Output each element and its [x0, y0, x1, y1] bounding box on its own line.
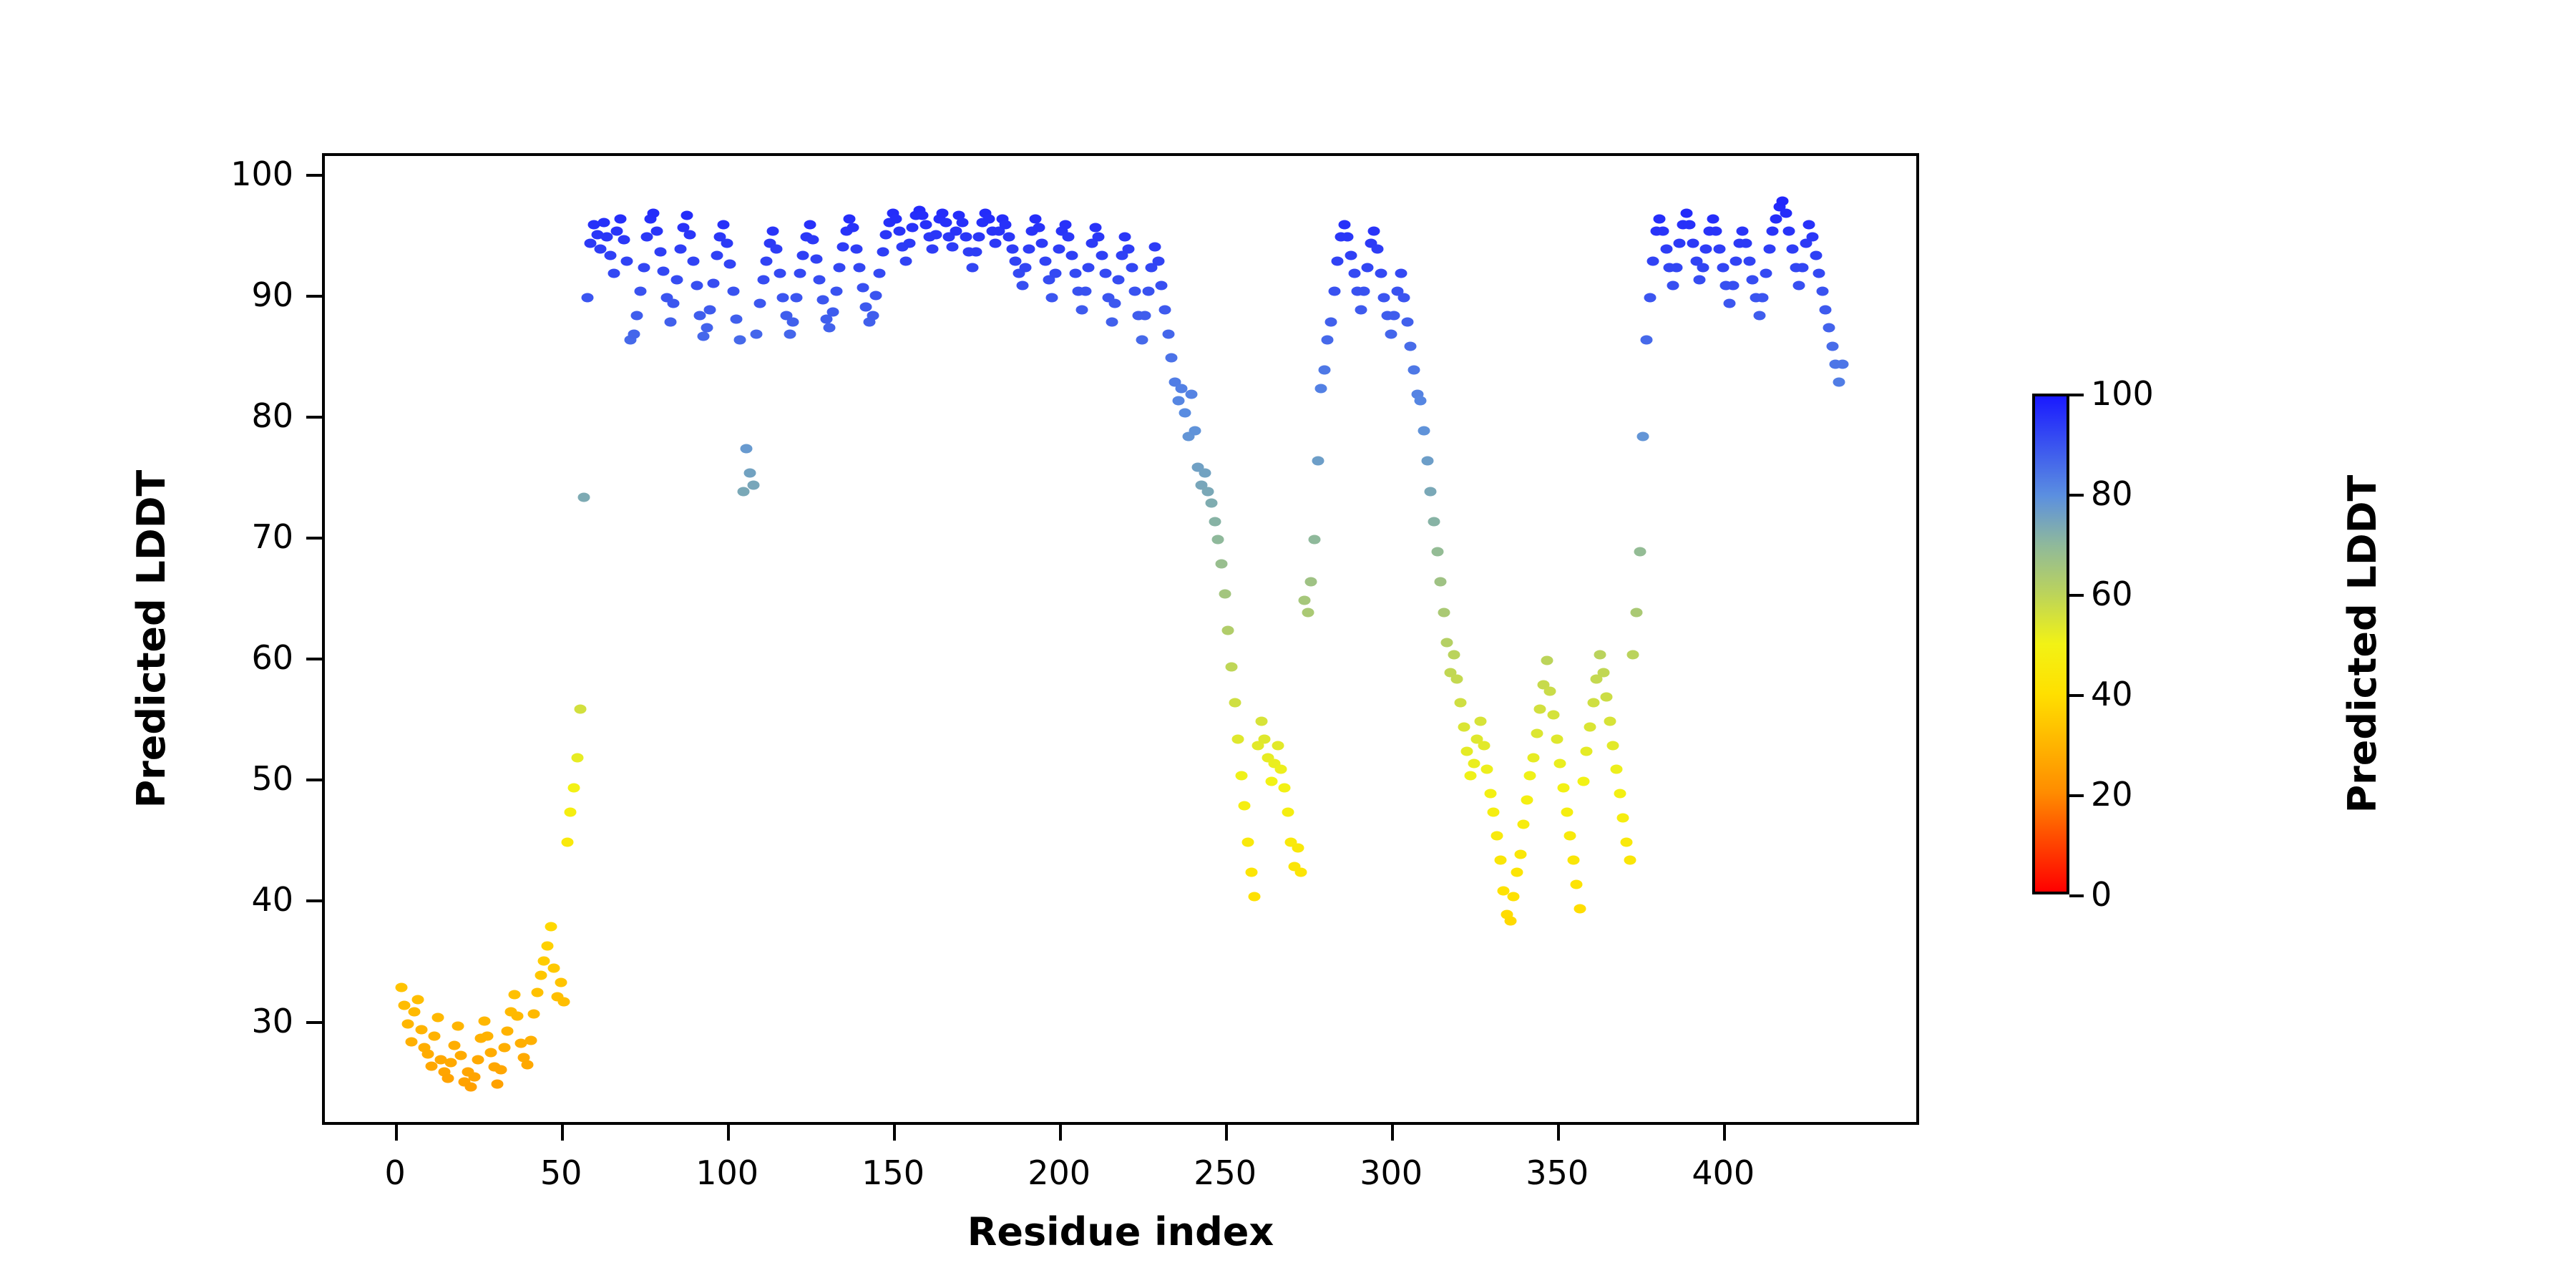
scatter-point	[1156, 281, 1168, 291]
scatter-point	[1305, 577, 1317, 587]
scatter-point	[1448, 650, 1460, 659]
scatter-point	[561, 837, 573, 847]
scatter-point	[1654, 214, 1666, 223]
colorbar-tick-mark	[2069, 794, 2084, 797]
x-axis-title: Residue index	[322, 1209, 1919, 1254]
scatter-point	[1617, 814, 1629, 823]
scatter-point	[1461, 747, 1473, 756]
scatter-point	[1405, 341, 1417, 351]
colorbar-tick-mark	[2069, 394, 2084, 396]
scatter-point	[1322, 336, 1334, 345]
scatter-point	[701, 323, 713, 333]
scatter-point	[1119, 233, 1131, 242]
scatter-point	[1581, 747, 1593, 756]
scatter-point	[468, 1073, 480, 1082]
x-tick-label: 250	[1194, 1153, 1257, 1192]
scatter-point	[1796, 263, 1808, 272]
scatter-point	[827, 308, 839, 317]
scatter-point	[1020, 263, 1032, 272]
scatter-point	[1282, 807, 1294, 816]
scatter-point	[1770, 214, 1782, 223]
scatter-point	[528, 1010, 540, 1019]
x-tick-label: 50	[540, 1153, 582, 1192]
scatter-point	[983, 214, 995, 223]
scatter-point	[1816, 287, 1828, 296]
scatter-point	[1680, 208, 1692, 218]
scatter-point	[1046, 293, 1058, 302]
scatter-point	[1793, 281, 1805, 291]
y-tick-mark	[306, 899, 322, 902]
scatter-point	[680, 210, 693, 220]
scatter-point	[1023, 245, 1035, 254]
scatter-point	[525, 1036, 537, 1045]
scatter-point	[1441, 638, 1453, 647]
scatter-point	[790, 293, 802, 302]
y-tick-label: 60	[251, 638, 293, 677]
scatter-point	[1083, 263, 1095, 272]
scatter-point	[1740, 238, 1752, 248]
scatter-point	[741, 444, 753, 454]
scatter-point	[1348, 269, 1360, 278]
scatter-point	[1607, 741, 1619, 750]
scatter-point	[1431, 547, 1443, 557]
scatter-point	[532, 987, 544, 997]
scatter-point	[1757, 293, 1769, 302]
colorbar-tick-label: 80	[2091, 474, 2133, 513]
x-tick-label: 100	[696, 1153, 758, 1192]
scatter-point	[1544, 686, 1556, 696]
scatter-point	[1614, 789, 1626, 799]
scatter-point	[1567, 856, 1579, 865]
y-tick-mark	[306, 416, 322, 419]
x-tick-mark	[727, 1125, 730, 1141]
scatter-point	[1810, 250, 1822, 260]
scatter-point	[1474, 716, 1486, 726]
scatter-point	[1016, 281, 1028, 291]
scatter-point	[1627, 650, 1639, 659]
scatter-point	[903, 238, 915, 248]
scatter-point	[1464, 771, 1476, 780]
scatter-point	[734, 336, 746, 345]
scatter-point	[1723, 299, 1735, 308]
scatter-point	[794, 269, 806, 278]
scatter-point	[1113, 275, 1125, 284]
scatter-point	[1521, 795, 1533, 804]
y-tick-label: 30	[251, 1002, 293, 1040]
scatter-point	[1272, 741, 1284, 750]
scatter-point	[919, 220, 932, 230]
scatter-point	[721, 238, 733, 248]
scatter-point	[797, 250, 809, 260]
scatter-point	[684, 230, 696, 239]
scatter-point	[1528, 753, 1540, 762]
scatter-point	[1760, 269, 1772, 278]
scatter-point	[867, 311, 879, 321]
scatter-point	[814, 275, 826, 284]
scatter-point	[1713, 245, 1725, 254]
scatter-point	[558, 997, 570, 1007]
scatter-point	[1508, 892, 1520, 902]
scatter-point	[1275, 765, 1287, 774]
scatter-point	[631, 311, 643, 321]
scatter-point	[608, 269, 620, 278]
scatter-point	[1189, 426, 1201, 435]
scatter-point	[618, 235, 630, 244]
scatter-point	[860, 303, 872, 312]
scatter-point	[1298, 595, 1310, 605]
scatter-point	[704, 305, 716, 314]
scatter-points-layer	[325, 156, 1916, 1122]
scatter-point	[834, 263, 846, 272]
scatter-point	[836, 242, 849, 251]
scatter-point	[1006, 245, 1018, 254]
scatter-point	[634, 287, 646, 296]
scatter-point	[605, 250, 617, 260]
scatter-point	[1096, 250, 1108, 260]
scatter-point	[455, 1050, 467, 1060]
scatter-point	[452, 1021, 464, 1030]
scatter-point	[1836, 359, 1848, 369]
scatter-point	[1066, 250, 1078, 260]
scatter-point	[1435, 577, 1447, 587]
scatter-point	[1126, 263, 1138, 272]
scatter-point	[478, 1017, 490, 1026]
scatter-point	[1149, 242, 1161, 251]
scatter-point	[1186, 390, 1198, 399]
colorbar-tick-label: 0	[2091, 875, 2112, 914]
x-tick-mark	[1225, 1125, 1228, 1141]
y-tick-label: 40	[251, 880, 293, 919]
scatter-point	[1199, 469, 1211, 478]
scatter-point	[960, 233, 972, 242]
scatter-point	[873, 269, 885, 278]
scatter-point	[1780, 208, 1792, 218]
scatter-point	[1245, 868, 1257, 877]
scatter-point	[1707, 214, 1719, 223]
scatter-point	[1265, 777, 1277, 786]
scatter-point	[1225, 662, 1237, 671]
scatter-point	[1259, 735, 1271, 744]
colorbar-ticks: 020406080100	[2069, 394, 2212, 894]
scatter-point	[691, 281, 703, 291]
scatter-point	[1484, 789, 1496, 799]
scatter-point	[1142, 287, 1154, 296]
y-tick-mark	[306, 295, 322, 298]
scatter-point	[1302, 608, 1314, 617]
scatter-point	[581, 293, 593, 302]
scatter-point	[1099, 269, 1111, 278]
y-tick-mark	[306, 658, 322, 660]
scatter-point	[1657, 226, 1669, 235]
scatter-point	[1458, 723, 1470, 732]
scatter-point	[641, 233, 653, 242]
scatter-point	[1368, 226, 1380, 235]
scatter-point	[1079, 287, 1091, 296]
x-tick-mark	[395, 1125, 398, 1141]
scatter-point	[1308, 535, 1320, 545]
scatter-point	[654, 247, 666, 256]
scatter-point	[441, 1073, 454, 1083]
scatter-point	[1295, 868, 1307, 877]
scatter-point	[1557, 783, 1569, 792]
scatter-point	[761, 257, 773, 266]
y-tick-label: 90	[251, 275, 293, 314]
scatter-point	[1823, 323, 1835, 333]
scatter-point	[927, 245, 939, 254]
scatter-point	[1063, 233, 1075, 242]
scatter-point	[538, 956, 550, 965]
scatter-point	[1547, 711, 1559, 720]
scatter-point	[548, 963, 560, 972]
scatter-point	[771, 245, 783, 254]
scatter-point	[757, 275, 769, 284]
scatter-point	[1777, 196, 1789, 205]
scatter-point	[1255, 716, 1267, 726]
scatter-point	[1531, 728, 1543, 738]
scatter-point	[1093, 233, 1105, 242]
scatter-point	[1166, 353, 1178, 363]
scatter-point	[1172, 396, 1184, 405]
scatter-point	[472, 1055, 484, 1065]
scatter-point	[1232, 735, 1244, 744]
scatter-point	[1139, 311, 1151, 321]
scatter-point	[817, 296, 829, 305]
scatter-point	[1106, 317, 1118, 326]
scatter-point	[1551, 735, 1563, 744]
scatter-point	[1737, 226, 1749, 235]
scatter-point	[421, 1049, 434, 1058]
scatter-point	[707, 278, 719, 288]
scatter-point	[717, 220, 729, 230]
scatter-point	[498, 1043, 510, 1053]
y-tick-label: 70	[251, 517, 293, 556]
scatter-point	[854, 263, 866, 272]
scatter-point	[1594, 650, 1606, 659]
scatter-point	[1820, 305, 1832, 314]
x-tick-label: 0	[384, 1153, 405, 1192]
scatter-point	[1049, 269, 1061, 278]
scatter-point	[1129, 287, 1141, 296]
scatter-point	[1667, 281, 1679, 291]
scatter-point	[731, 315, 743, 324]
scatter-point	[1438, 608, 1450, 617]
scatter-point	[508, 990, 520, 1000]
scatter-point	[847, 223, 859, 232]
scatter-point	[1687, 238, 1699, 248]
scatter-point	[1541, 656, 1553, 665]
scatter-point	[1375, 269, 1387, 278]
scatter-point	[1630, 608, 1642, 617]
scatter-point	[621, 257, 633, 266]
scatter-point	[1152, 257, 1164, 266]
scatter-point	[711, 250, 723, 260]
scatter-point	[1644, 293, 1656, 302]
scatter-point	[1524, 771, 1536, 780]
scatter-point	[1518, 819, 1530, 829]
y-tick-label: 80	[251, 396, 293, 435]
scatter-point	[668, 299, 680, 308]
x-axis-tick-labels: 050100150200250300350400	[322, 1153, 1919, 1196]
scatter-point	[628, 329, 640, 338]
scatter-point	[1033, 223, 1045, 232]
scatter-point	[1684, 220, 1696, 230]
scatter-point	[1408, 366, 1420, 375]
y-tick-mark	[306, 537, 322, 540]
x-tick-mark	[1059, 1125, 1062, 1141]
scatter-point	[565, 807, 577, 816]
scatter-point	[787, 317, 799, 326]
scatter-point	[1478, 741, 1490, 750]
scatter-point	[1089, 223, 1101, 232]
scatter-point	[990, 238, 1002, 248]
scatter-point	[857, 283, 869, 293]
scatter-point	[1355, 305, 1367, 314]
scatter-point	[694, 311, 706, 321]
scatter-point	[1634, 547, 1646, 557]
colorbar-tick-mark	[2069, 494, 2084, 497]
scatter-point	[402, 1019, 414, 1028]
scatter-point	[810, 254, 822, 263]
scatter-point	[1674, 238, 1686, 248]
scatter-point	[1574, 904, 1586, 913]
scatter-point	[1235, 771, 1247, 780]
scatter-point	[1229, 698, 1241, 708]
scatter-point	[1717, 263, 1729, 272]
x-tick-mark	[893, 1125, 896, 1141]
scatter-point	[429, 1031, 441, 1040]
scatter-point	[917, 210, 929, 220]
scatter-point	[1727, 281, 1739, 291]
x-tick-label: 150	[862, 1153, 924, 1192]
scatter-point	[411, 995, 424, 1004]
scatter-point	[747, 481, 759, 490]
scatter-point	[1577, 777, 1589, 786]
scatter-point	[1212, 535, 1224, 545]
scatter-point	[395, 982, 407, 992]
scatter-point	[601, 233, 613, 242]
scatter-point	[744, 469, 756, 478]
scatter-point	[1571, 880, 1583, 889]
scatter-point	[774, 269, 786, 278]
scatter-point	[1362, 263, 1374, 272]
y-axis-title: Predicted LDDT	[129, 153, 179, 1125]
scatter-point	[465, 1082, 477, 1091]
y-tick-mark	[306, 779, 322, 781]
scatter-point	[1053, 245, 1065, 254]
scatter-point	[1763, 245, 1775, 254]
scatter-point	[807, 235, 819, 244]
scatter-point	[1315, 384, 1327, 393]
scatter-point	[727, 287, 739, 296]
scatter-point	[1494, 856, 1506, 865]
scatter-point	[1002, 233, 1015, 242]
scatter-point	[1753, 311, 1765, 321]
scatter-point	[880, 230, 892, 239]
scatter-point	[1783, 226, 1795, 235]
scatter-point	[1222, 625, 1234, 635]
scatter-point	[535, 970, 547, 980]
scatter-point	[597, 218, 610, 228]
scatter-point	[1000, 220, 1012, 230]
scatter-point	[907, 223, 919, 232]
scatter-point	[1481, 765, 1493, 774]
scatter-point	[1611, 765, 1623, 774]
scatter-point	[1418, 426, 1430, 435]
scatter-point	[1554, 759, 1566, 769]
scatter-point	[1826, 341, 1838, 351]
x-tick-label: 400	[1692, 1153, 1755, 1192]
colorbar-tick-mark	[2069, 694, 2084, 697]
scatter-point	[409, 1007, 421, 1016]
scatter-point	[1813, 269, 1825, 278]
scatter-point	[1660, 245, 1672, 254]
scatter-point	[405, 1037, 417, 1046]
scatter-point	[1415, 396, 1427, 405]
scatter-point	[804, 220, 816, 230]
scatter-point	[1624, 856, 1636, 865]
scatter-point	[568, 783, 580, 792]
scatter-point	[1601, 692, 1613, 701]
scatter-point	[1136, 336, 1148, 345]
scatter-point	[611, 226, 623, 235]
scatter-point	[1332, 257, 1344, 266]
scatter-point	[638, 263, 650, 272]
scatter-point	[1328, 287, 1340, 296]
scatter-point	[1514, 849, 1526, 859]
scatter-point	[1647, 257, 1659, 266]
scatter-point	[492, 1080, 504, 1089]
colorbar-group: 020406080100	[2032, 394, 2069, 894]
scatter-point	[877, 247, 889, 256]
x-tick-mark	[1723, 1125, 1726, 1141]
scatter-point	[893, 226, 905, 235]
scatter-point	[753, 299, 766, 308]
scatter-point	[1640, 336, 1652, 345]
scatter-point	[502, 1026, 514, 1035]
scatter-point	[1491, 831, 1503, 841]
scatter-point	[1179, 408, 1191, 417]
scatter-point	[664, 317, 676, 326]
scatter-point	[947, 242, 959, 251]
scatter-point	[1806, 233, 1818, 242]
scatter-point	[890, 214, 902, 223]
scatter-point	[1561, 807, 1573, 816]
scatter-point	[541, 942, 553, 951]
scatter-point	[482, 1031, 494, 1040]
scatter-point	[1468, 759, 1480, 769]
scatter-point	[1587, 698, 1599, 708]
scatter-point	[494, 1065, 507, 1074]
figure-canvas: 30405060708090100 0501001502002503003504…	[0, 0, 2576, 1288]
scatter-point	[555, 978, 567, 987]
scatter-point	[1279, 783, 1291, 792]
scatter-point	[1803, 220, 1815, 230]
scatter-point	[1378, 293, 1390, 302]
scatter-point	[670, 275, 683, 284]
scatter-point	[1694, 275, 1706, 284]
scatter-point	[777, 293, 789, 302]
scatter-point	[1697, 263, 1709, 272]
scatter-point	[1428, 517, 1440, 526]
scatter-point	[571, 753, 583, 762]
scatter-point	[1345, 250, 1357, 260]
scatter-point	[1325, 317, 1337, 326]
y-tick-mark	[306, 1021, 322, 1024]
scatter-point	[1730, 257, 1742, 266]
scatter-point	[1342, 233, 1354, 242]
scatter-point	[415, 1025, 427, 1035]
scatter-point	[431, 1013, 444, 1023]
